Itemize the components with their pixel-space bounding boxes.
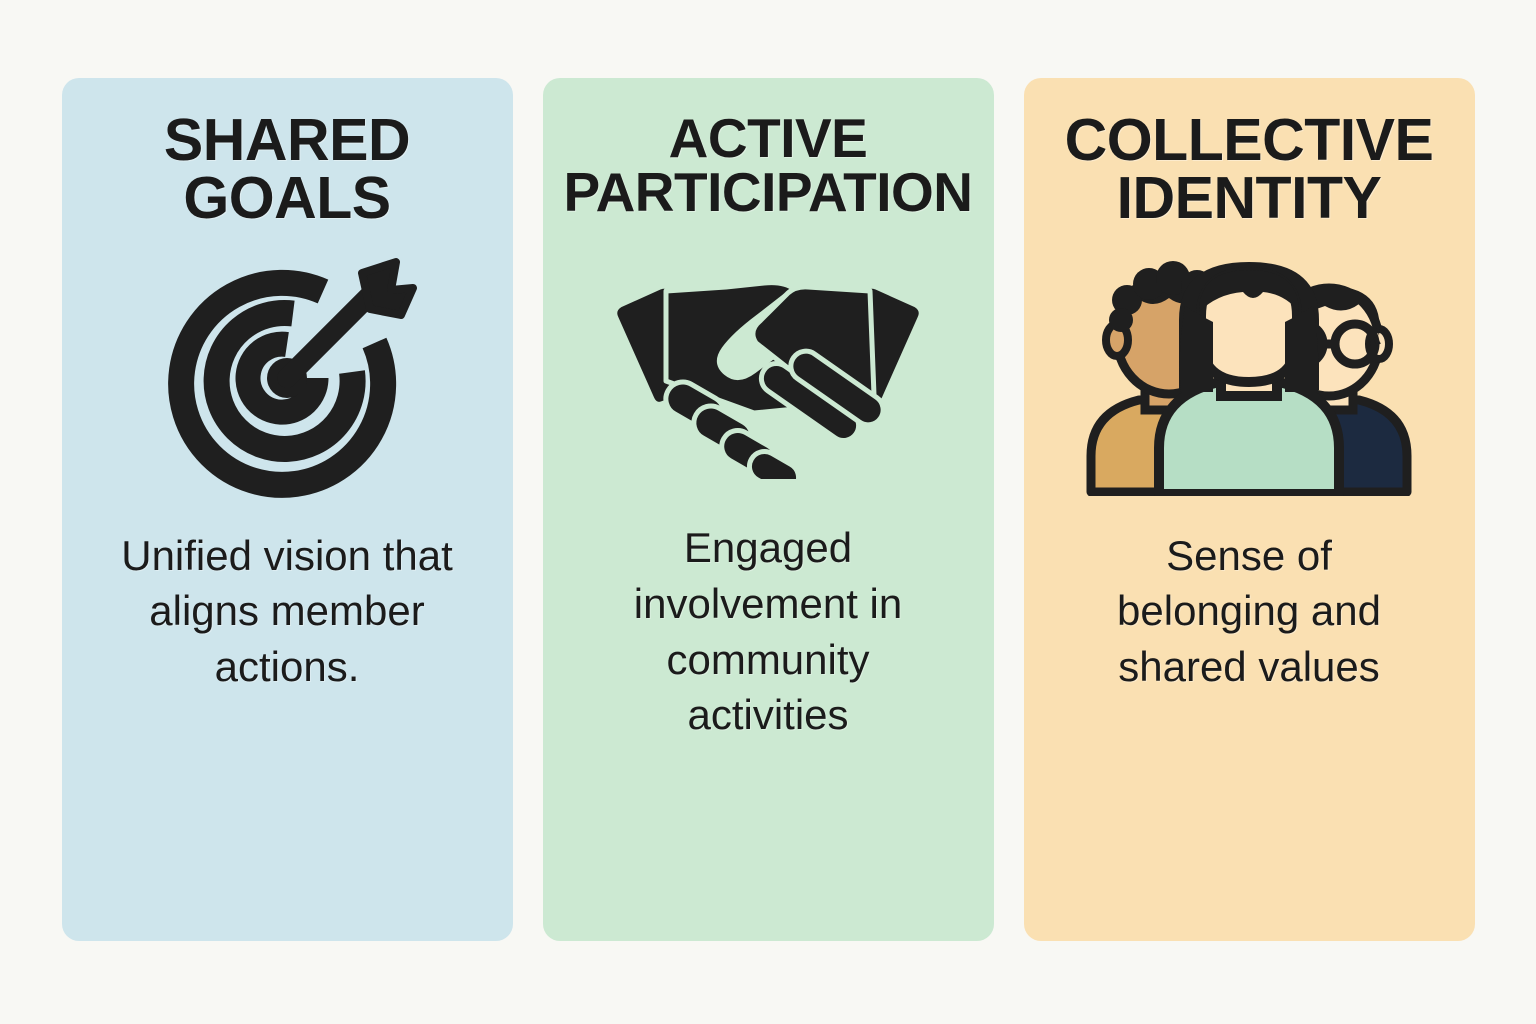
icon-zone-shared-goals <box>80 228 495 528</box>
card-shared-goals[interactable]: SHARED GOALS <box>62 78 513 941</box>
card-title-shared-goals: SHARED GOALS <box>80 112 495 228</box>
card-title-active-participation: ACTIVE PARTICIPATION <box>561 112 976 220</box>
group-of-people-icon <box>1073 260 1425 496</box>
infographic-board: SHARED GOALS <box>0 0 1536 1024</box>
card-collective-identity[interactable]: COLLECTIVE IDENTITY <box>1024 78 1475 941</box>
target-arrow-icon <box>156 247 418 509</box>
card-body-shared-goals: Unified vision that aligns member action… <box>117 528 457 696</box>
handshake-icon <box>608 261 928 479</box>
card-active-participation[interactable]: ACTIVE PARTICIPATION <box>543 78 994 941</box>
icon-zone-active-participation <box>561 220 976 520</box>
icon-zone-collective-identity <box>1042 228 1457 528</box>
card-body-collective-identity: Sense of belonging and shared values <box>1079 528 1419 696</box>
card-title-collective-identity: COLLECTIVE IDENTITY <box>1042 112 1457 228</box>
card-body-active-participation: Engaged involvement in community activit… <box>618 520 918 743</box>
